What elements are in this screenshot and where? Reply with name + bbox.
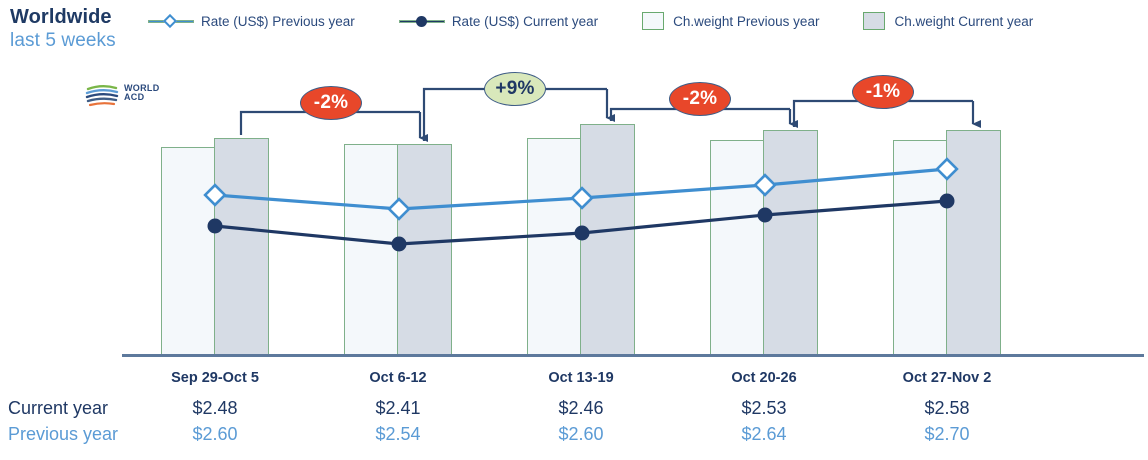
bar-chweight-current bbox=[397, 144, 452, 355]
table-cell: $2.46 bbox=[501, 398, 661, 419]
table-cell: $2.53 bbox=[684, 398, 844, 419]
chart-plot-area: -2% +9% -2% -1% bbox=[0, 0, 1148, 460]
bar-chweight-previous bbox=[161, 147, 215, 355]
table-cell: $2.70 bbox=[867, 424, 1027, 445]
row-label-previous-year: Previous year bbox=[8, 424, 118, 445]
table-cell: $2.60 bbox=[135, 424, 295, 445]
row-label-current-year: Current year bbox=[8, 398, 108, 419]
change-badge: -2% bbox=[669, 82, 731, 116]
column-header: Oct 13-19 bbox=[501, 370, 661, 386]
chart-page: Worldwide last 5 weeks Rate (US$) Previo… bbox=[0, 0, 1148, 460]
bar-chweight-previous bbox=[344, 144, 398, 355]
table-cell: $2.48 bbox=[135, 398, 295, 419]
table-cell: $2.64 bbox=[684, 424, 844, 445]
table-cell: $2.58 bbox=[867, 398, 1027, 419]
table-header-row: Sep 29-Oct 5 Oct 6-12 Oct 13-19 Oct 20-2… bbox=[0, 362, 1148, 388]
table-cell: $2.60 bbox=[501, 424, 661, 445]
change-badge: -1% bbox=[852, 75, 914, 109]
bar-chweight-current bbox=[580, 124, 635, 355]
bar-chweight-previous bbox=[893, 140, 947, 355]
change-badge: +9% bbox=[484, 72, 546, 106]
column-header: Oct 27-Nov 2 bbox=[867, 370, 1027, 386]
bar-chweight-previous bbox=[710, 140, 764, 355]
bar-chweight-previous bbox=[527, 138, 581, 355]
data-table: Sep 29-Oct 5 Oct 6-12 Oct 13-19 Oct 20-2… bbox=[0, 362, 1148, 388]
x-axis-line bbox=[122, 354, 1144, 357]
table-cell: $2.54 bbox=[318, 424, 478, 445]
change-badge: -2% bbox=[300, 86, 362, 120]
bar-chweight-current bbox=[763, 130, 818, 355]
table-cell: $2.41 bbox=[318, 398, 478, 419]
bar-chweight-current bbox=[214, 138, 269, 355]
column-header: Sep 29-Oct 5 bbox=[135, 370, 295, 386]
column-header: Oct 6-12 bbox=[318, 370, 478, 386]
bar-chweight-current bbox=[946, 130, 1001, 355]
column-header: Oct 20-26 bbox=[684, 370, 844, 386]
